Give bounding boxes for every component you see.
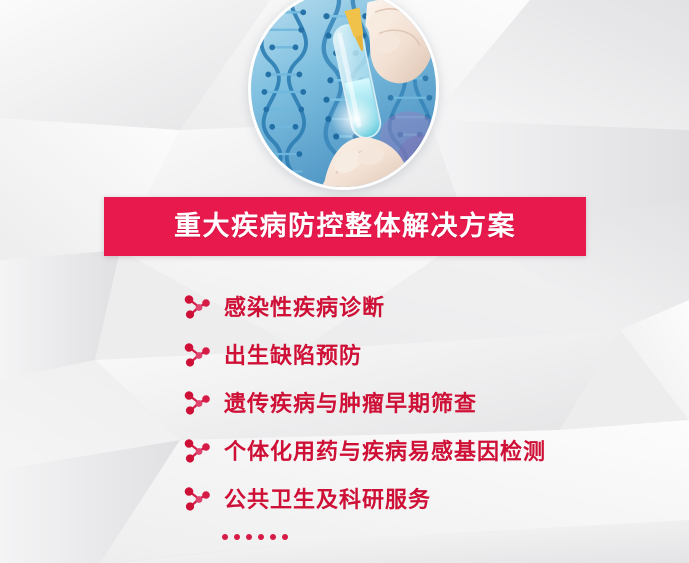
ellipsis-dot [234, 534, 240, 540]
list-item[interactable]: 出生缺陷预防 [182, 332, 652, 380]
page-title: 重大疾病防控整体解决方案 [174, 213, 516, 240]
feature-list: 感染性疾病诊断 出生缺陷预防 [182, 284, 652, 524]
molecule-icon [182, 486, 212, 514]
list-item[interactable]: 遗传疾病与肿瘤早期筛查 [182, 380, 652, 428]
poster-root: 重大疾病防控整体解决方案 感染性疾病诊断 [0, 0, 689, 563]
molecule-icon [182, 390, 212, 418]
ellipsis-indicator [222, 534, 288, 540]
ellipsis-dot [222, 534, 228, 540]
list-item[interactable]: 感染性疾病诊断 [182, 284, 652, 332]
list-item-label: 出生缺陷预防 [224, 345, 362, 367]
ellipsis-dot [246, 534, 252, 540]
ellipsis-dot [282, 534, 288, 540]
ellipsis-dot [270, 534, 276, 540]
molecule-icon [182, 438, 212, 466]
list-item-label: 个体化用药与疾病易感基因检测 [224, 441, 546, 463]
molecule-icon [182, 294, 212, 322]
list-item-label: 感染性疾病诊断 [224, 297, 385, 319]
ellipsis-dot [258, 534, 264, 540]
list-item-label: 遗传疾病与肿瘤早期筛查 [224, 393, 477, 415]
title-banner: 重大疾病防控整体解决方案 [104, 197, 586, 256]
list-item[interactable]: 公共卫生及科研服务 [182, 476, 652, 524]
list-item[interactable]: 个体化用药与疾病易感基因检测 [182, 428, 652, 476]
molecule-icon [182, 342, 212, 370]
list-item-label: 公共卫生及科研服务 [224, 489, 431, 511]
